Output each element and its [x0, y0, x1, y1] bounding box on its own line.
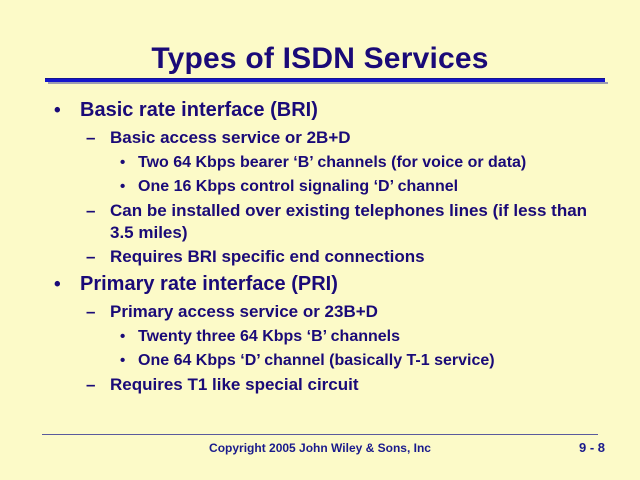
bullet-item-level-2: –Requires BRI specific end connections	[0, 246, 640, 268]
title-block: Types of ISDN Services	[0, 42, 640, 76]
bullet-item-level-3: •One 16 Kbps control signaling ‘D’ chann…	[0, 176, 640, 197]
bullet-text: One 64 Kbps ‘D’ channel (basically T-1 s…	[138, 350, 610, 371]
bullet-item-level-2: –Requires T1 like special circuit	[0, 374, 640, 396]
bullet-dash-icon: –	[86, 301, 95, 323]
footer: Copyright 2005 John Wiley & Sons, Inc 9 …	[0, 440, 640, 460]
bullet-text: Twenty three 64 Kbps ‘B’ channels	[138, 326, 610, 347]
bullet-dot-icon: •	[54, 97, 61, 124]
page-title: Types of ISDN Services	[0, 42, 640, 76]
bullet-item-level-3: •Two 64 Kbps bearer ‘B’ channels (for vo…	[0, 152, 640, 173]
footer-copyright: Copyright 2005 John Wiley & Sons, Inc	[0, 440, 640, 456]
bullet-text: Requires T1 like special circuit	[110, 374, 600, 396]
bullet-text: Primary rate interface (PRI)	[80, 271, 616, 298]
bullet-dot-icon: •	[120, 326, 125, 347]
bullet-item-level-1: •Basic rate interface (BRI)	[0, 97, 640, 124]
footer-page-number: 9 - 8	[579, 440, 605, 456]
bullet-dash-icon: –	[86, 374, 95, 396]
bullet-text: Basic rate interface (BRI)	[80, 97, 616, 124]
bullet-dot-icon: •	[54, 271, 61, 298]
bullet-item-level-3: •One 64 Kbps ‘D’ channel (basically T-1 …	[0, 350, 640, 371]
bullet-text: One 16 Kbps control signaling ‘D’ channe…	[138, 176, 610, 197]
bullet-item-level-2: –Primary access service or 23B+D	[0, 301, 640, 323]
bullet-dot-icon: •	[120, 176, 125, 197]
bullet-item-level-2: –Basic access service or 2B+D	[0, 127, 640, 149]
footer-divider	[42, 434, 598, 435]
bullet-text: Can be installed over existing telephone…	[110, 200, 600, 244]
bullet-text: Requires BRI specific end connections	[110, 246, 600, 268]
title-divider-shadow	[48, 82, 608, 84]
bullet-dot-icon: •	[120, 350, 125, 371]
bullet-list: •Basic rate interface (BRI)–Basic access…	[0, 94, 640, 398]
bullet-text: Two 64 Kbps bearer ‘B’ channels (for voi…	[138, 152, 610, 173]
bullet-dash-icon: –	[86, 127, 95, 149]
bullet-text: Primary access service or 23B+D	[110, 301, 600, 323]
bullet-dash-icon: –	[86, 246, 95, 268]
bullet-item-level-1: •Primary rate interface (PRI)	[0, 271, 640, 298]
bullet-item-level-3: •Twenty three 64 Kbps ‘B’ channels	[0, 326, 640, 347]
bullet-dot-icon: •	[120, 152, 125, 173]
slide: Types of ISDN Services •Basic rate inter…	[0, 0, 640, 480]
bullet-text: Basic access service or 2B+D	[110, 127, 600, 149]
bullet-item-level-2: –Can be installed over existing telephon…	[0, 200, 640, 244]
bullet-dash-icon: –	[86, 200, 95, 222]
